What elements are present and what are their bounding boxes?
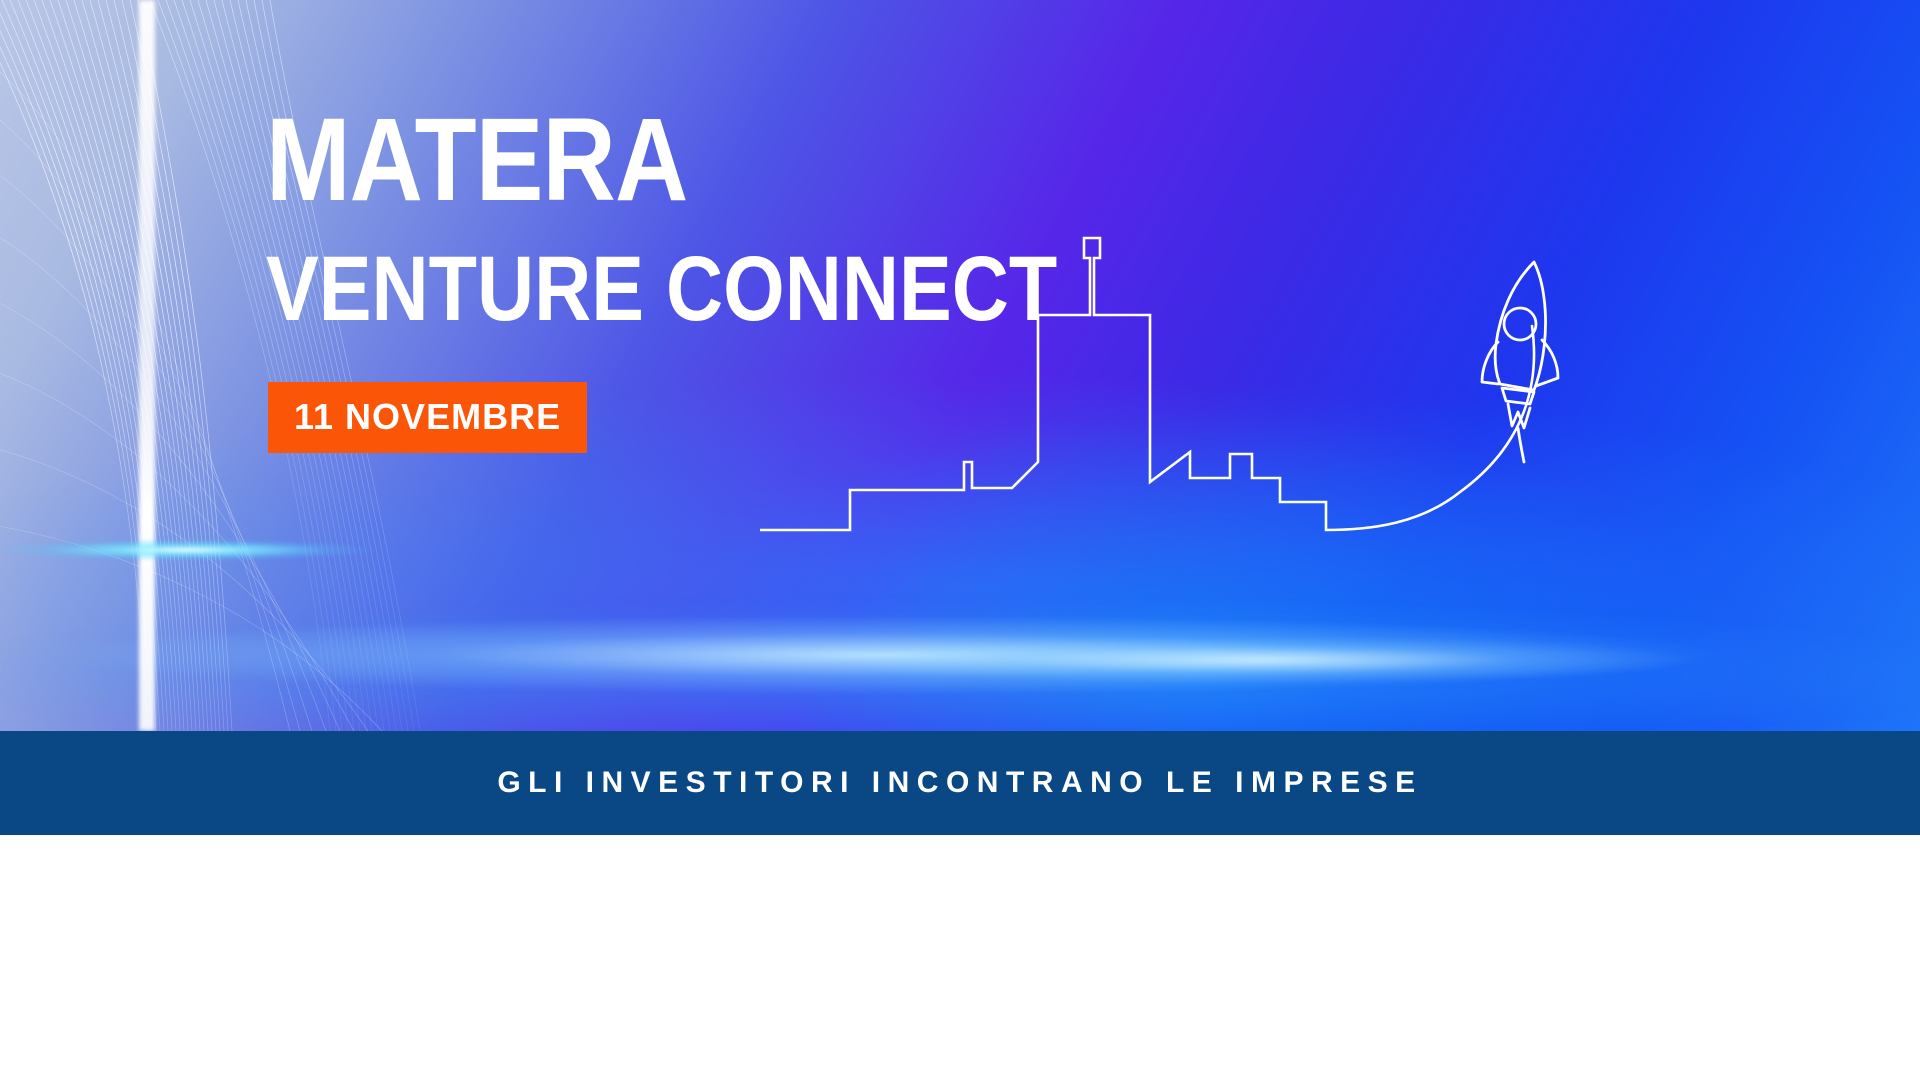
rocket-trail	[1460, 326, 1534, 492]
hero-glow	[0, 560, 1920, 731]
fan-light-beam	[0, 505, 420, 595]
date-badge[interactable]: 11 NOVEMBRE	[268, 382, 587, 453]
event-title-main: MATERA	[266, 104, 1057, 217]
hero-background: MATERA VENTURE CONNECT 11 NOVEMBRE	[0, 0, 1920, 731]
event-title-sub: VENTURE CONNECT	[266, 243, 1057, 335]
rocket-icon	[1482, 262, 1558, 462]
tagline-text: GLI INVESTITORI INCONTRANO LE IMPRESE	[497, 766, 1422, 800]
logo-strip: Promotori Organizzato da	[0, 835, 1920, 1080]
event-banner: MATERA VENTURE CONNECT 11 NOVEMBRE	[0, 0, 1920, 1080]
fan-highlight	[139, 0, 155, 731]
title-block: MATERA VENTURE CONNECT	[266, 104, 1186, 335]
tagline-bar: GLI INVESTITORI INCONTRANO LE IMPRESE	[0, 731, 1920, 835]
date-badge-label: 11 NOVEMBRE	[294, 396, 561, 437]
hero-glow-secondary	[860, 600, 1920, 720]
